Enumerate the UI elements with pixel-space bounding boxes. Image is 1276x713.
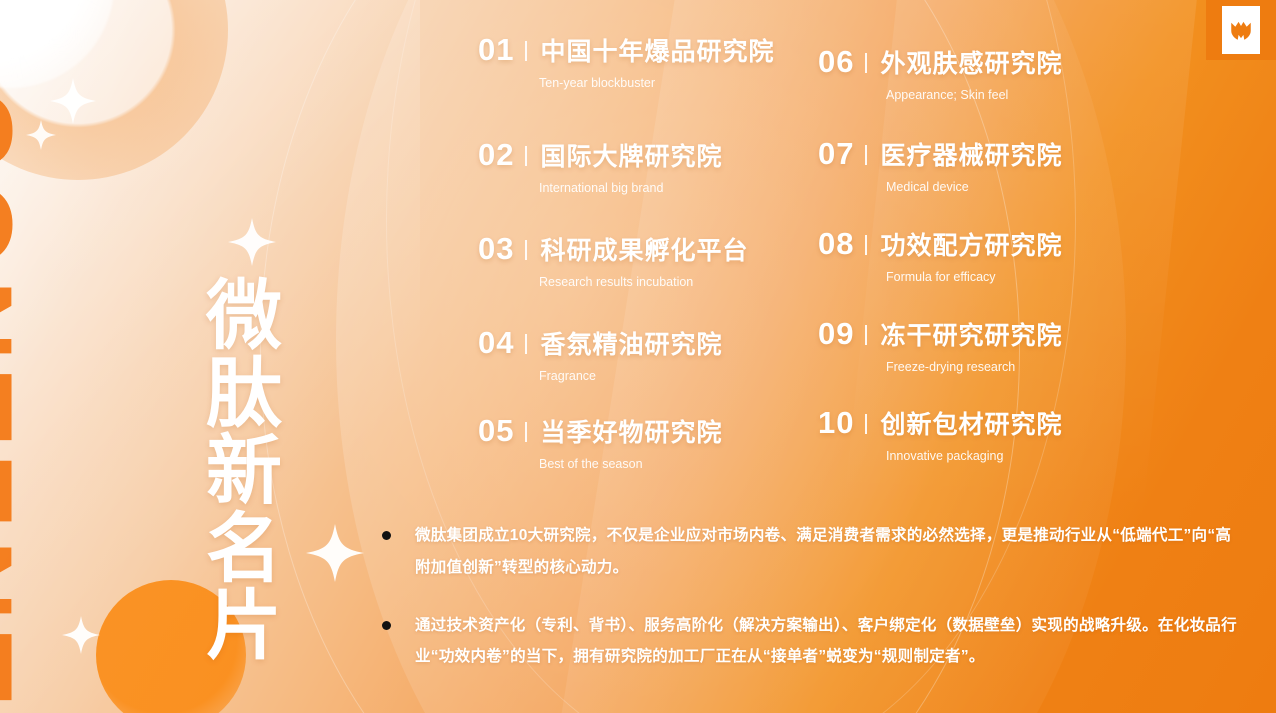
sparkle-icon (62, 616, 100, 654)
item-number: 06 (818, 46, 854, 77)
item-title-cn: 当季好物研究院 (540, 421, 722, 446)
item-divider (865, 235, 867, 255)
item-number: 02 (478, 139, 514, 170)
item-divider (865, 414, 867, 434)
item-divider (525, 422, 527, 442)
item-number: 04 (478, 327, 514, 358)
title-char: 片 (196, 588, 292, 666)
item-number: 09 (818, 318, 854, 349)
item-title-cn: 功效配方研究院 (880, 234, 1062, 259)
item-title-en: Fragrance (539, 370, 858, 383)
contents-item-03[interactable]: 03科研成果孵化平台 Research results incubation (478, 233, 858, 289)
item-divider (865, 145, 867, 165)
title-char: 新 (196, 433, 292, 511)
item-title-en: International big brand (539, 182, 858, 195)
item-title-en: Best of the season (539, 458, 858, 471)
top-left-white-circle (0, 0, 114, 88)
item-title-en: Formula for efficacy (886, 271, 1198, 284)
contents-item-10[interactable]: 10创新包材研究院 Innovative packaging (818, 407, 1198, 463)
item-divider (525, 146, 527, 166)
item-title-en: Innovative packaging (886, 450, 1198, 463)
bullet-dot-icon (382, 621, 391, 630)
item-title-cn: 中国十年爆品研究院 (540, 40, 774, 65)
title-char: 肽 (196, 356, 292, 434)
item-divider (865, 325, 867, 345)
item-number: 05 (478, 415, 514, 446)
contents-item-05[interactable]: 05当季好物研究院 Best of the season (478, 415, 858, 471)
item-number: 08 (818, 228, 854, 259)
contents-item-02[interactable]: 02国际大牌研究院 International big brand (478, 139, 858, 195)
title-char: 名 (196, 511, 292, 589)
item-title-en: Ten-year blockbuster (539, 77, 858, 90)
item-title-cn: 冻干研究研究院 (880, 324, 1062, 349)
item-title-en: Medical device (886, 181, 1198, 194)
item-title-cn: 国际大牌研究院 (540, 145, 722, 170)
contents-item-08[interactable]: 08功效配方研究院 Formula for efficacy (818, 228, 1198, 284)
item-number: 10 (818, 407, 854, 438)
note-text: 通过技术资产化（专利、背书）、服务高阶化（解决方案输出）、客户绑定化（数据壁垒）… (415, 610, 1242, 674)
item-number: 07 (818, 138, 854, 169)
item-number: 03 (478, 233, 514, 264)
item-title-en: Research results incubation (539, 276, 858, 289)
contents-item-09[interactable]: 09冻干研究研究院 Freeze-drying research (818, 318, 1198, 374)
item-divider (865, 53, 867, 73)
slide-title-vertical: 微 肽 新 名 片 (196, 278, 292, 666)
contents-vertical-label: CONTENTS (0, 88, 28, 648)
notes-section: 微肽集团成立10大研究院，不仅是企业应对市场内卷、满足消费者需求的必然选择，更是… (382, 520, 1242, 699)
item-title-cn: 香氛精油研究院 (540, 333, 722, 358)
item-title-cn: 外观肤感研究院 (880, 52, 1062, 77)
item-divider (525, 41, 527, 61)
item-number: 01 (478, 34, 514, 65)
contents-item-06[interactable]: 06外观肤感研究院 Appearance; Skin feel (818, 46, 1198, 102)
item-divider (525, 240, 527, 260)
contents-item-01[interactable]: 01中国十年爆品研究院 Ten-year blockbuster (478, 34, 858, 90)
contents-item-04[interactable]: 04香氛精油研究院 Fragrance (478, 327, 858, 383)
contents-item-07[interactable]: 07医疗器械研究院 Medical device (818, 138, 1198, 194)
sparkle-icon (228, 218, 276, 266)
item-title-cn: 创新包材研究院 (880, 413, 1062, 438)
sparkle-icon (306, 524, 364, 582)
item-title-en: Freeze-drying research (886, 361, 1198, 374)
bullet-dot-icon (382, 531, 391, 540)
note-text: 微肽集团成立10大研究院，不仅是企业应对市场内卷、满足消费者需求的必然选择，更是… (415, 520, 1242, 584)
item-title-cn: 医疗器械研究院 (880, 144, 1062, 169)
note-item: 通过技术资产化（专利、背书）、服务高阶化（解决方案输出）、客户绑定化（数据壁垒）… (382, 610, 1242, 674)
sparkle-icon (50, 78, 96, 124)
item-title-cn: 科研成果孵化平台 (540, 239, 748, 264)
title-char: 微 (196, 278, 292, 356)
contents-list: 01中国十年爆品研究院 Ten-year blockbuster 02国际大牌研… (478, 34, 1258, 484)
slide-canvas: CONTENTS 微 肽 新 名 片 01中国十年爆品研究院 Ten-year … (0, 0, 1276, 713)
note-item: 微肽集团成立10大研究院，不仅是企业应对市场内卷、满足消费者需求的必然选择，更是… (382, 520, 1242, 584)
item-divider (525, 334, 527, 354)
item-title-en: Appearance; Skin feel (886, 89, 1198, 102)
